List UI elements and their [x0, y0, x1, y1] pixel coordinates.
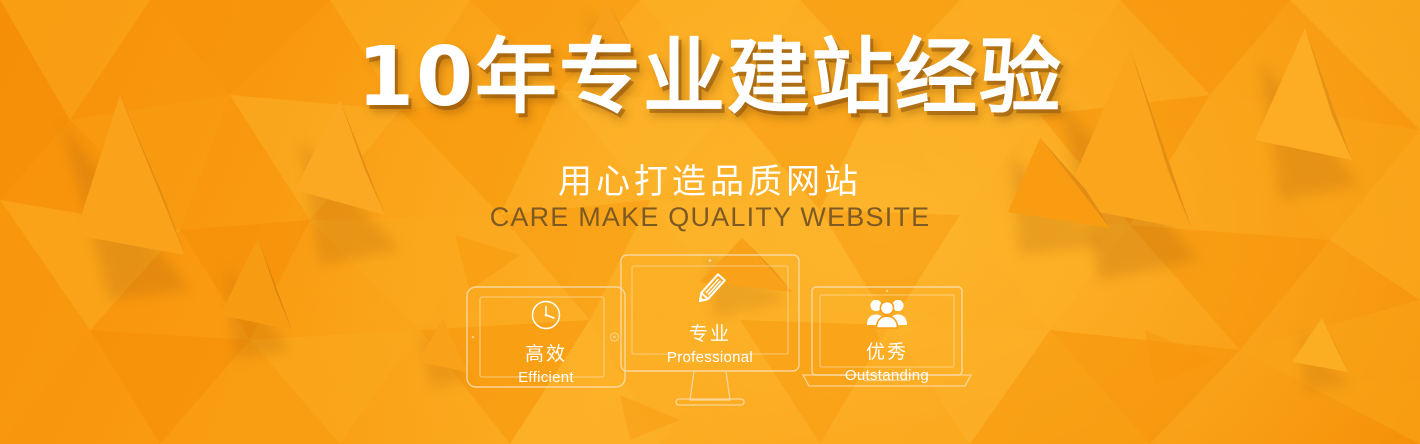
pyramid-left-small [220, 238, 292, 360]
feature-label-cn-outstanding: 优秀 [866, 343, 908, 362]
pencil-icon [688, 268, 732, 317]
feature-label-cn-efficient: 高效 [525, 345, 567, 364]
clock-icon [529, 298, 563, 337]
pyramid-far-right-small [1292, 318, 1350, 392]
feature-label-en-professional: Professional [667, 350, 753, 365]
feature-card-efficient[interactable]: 高效 Efficient [466, 286, 626, 386]
flat-triangle-3 [1145, 330, 1215, 385]
feature-label-en-outstanding: Outstanding [845, 368, 929, 383]
banner-subhead-chinese: 用心打造品质网站 [0, 154, 1420, 203]
banner-subhead-english: CARE MAKE QUALITY WEBSITE [0, 202, 1420, 233]
feature-device-group: 高效 Efficient [462, 252, 972, 412]
promo-banner: 10年专业建站经验 用心打造品质网站 CARE MAKE QUALITY WEB… [0, 0, 1420, 444]
feature-card-professional[interactable]: 专业 Professional [620, 254, 800, 406]
banner-headline: 10年专业建站经验 [0, 36, 1420, 120]
group-people-icon [866, 296, 908, 335]
feature-label-cn-professional: 专业 [689, 325, 731, 344]
feature-label-en-efficient: Efficient [518, 370, 574, 385]
feature-card-outstanding[interactable]: 优秀 Outstanding [802, 286, 972, 391]
